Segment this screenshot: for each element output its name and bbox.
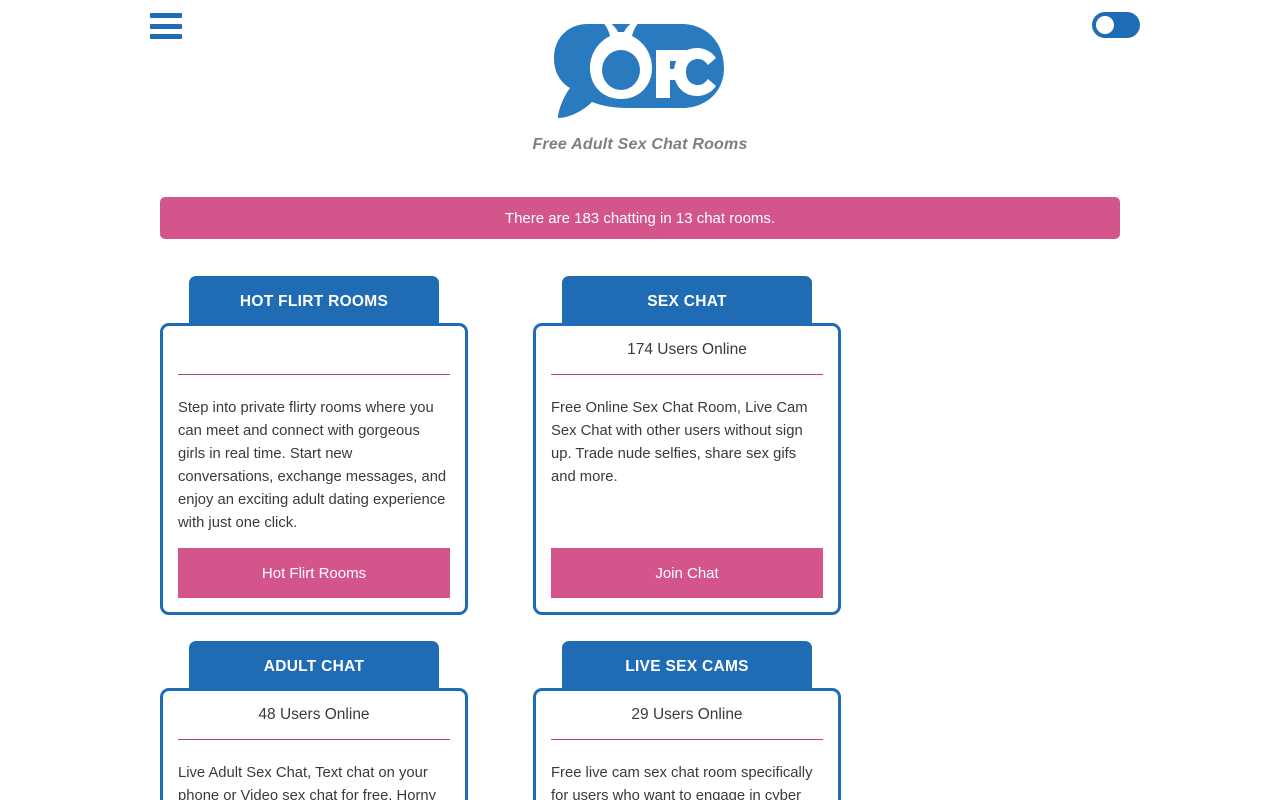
site-header: Free Adult Sex Chat Rooms [0,0,1280,180]
users-online-count: 48 Users Online [178,691,450,740]
chat-room-card: HOT FLIRT ROOMS Step into private flirty… [160,276,468,615]
toggle-knob [1096,16,1114,34]
theme-toggle-switch[interactable] [1092,12,1140,38]
users-online-count: 174 Users Online [551,326,823,375]
chat-room-card: LIVE SEX CAMS 29 Users Online Free live … [533,641,841,800]
chat-room-card-grid: HOT FLIRT ROOMS Step into private flirty… [160,276,1120,800]
ofc-speech-bubble-logo-icon [550,14,730,132]
card-body: 29 Users Online Free live cam sex chat r… [533,688,841,800]
users-online-count: 29 Users Online [551,691,823,740]
users-online-count [178,326,450,375]
card-body: 48 Users Online Live Adult Sex Chat, Tex… [160,688,468,800]
chat-room-card: SEX CHAT 174 Users Online Free Online Se… [533,276,841,615]
card-description: Step into private flirty rooms where you… [178,375,450,536]
join-chat-button[interactable]: Join Chat [551,548,823,598]
status-banner: There are 183 chatting in 13 chat rooms. [160,197,1120,239]
chat-room-card: ADULT CHAT 48 Users Online Live Adult Se… [160,641,468,800]
card-description: Live Adult Sex Chat, Text chat on your p… [178,740,450,800]
site-logo[interactable]: Free Adult Sex Chat Rooms [0,14,1280,154]
join-chat-button[interactable]: Hot Flirt Rooms [178,548,450,598]
card-body: 174 Users Online Free Online Sex Chat Ro… [533,323,841,615]
card-body: Step into private flirty rooms where you… [160,323,468,615]
card-description: Free live cam sex chat room specifically… [551,740,823,800]
page-root: Free Adult Sex Chat Rooms There are 183 … [0,0,1280,800]
card-description: Free Online Sex Chat Room, Live Cam Sex … [551,375,823,536]
site-tagline: Free Adult Sex Chat Rooms [0,136,1280,154]
